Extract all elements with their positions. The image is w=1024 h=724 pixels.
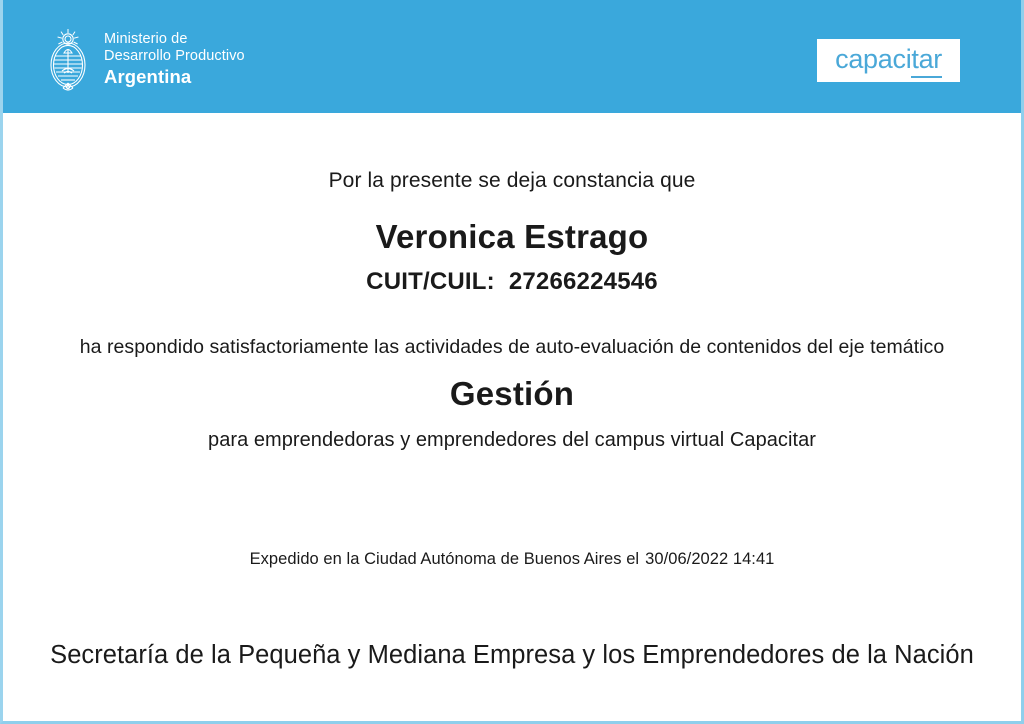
issue-line: Expedido en la Ciudad Autónoma de Buenos… (3, 550, 1021, 569)
ministry-line-1: Ministerio de (104, 31, 245, 48)
achievement-statement: ha respondido satisfactoriamente las act… (3, 336, 1021, 359)
capacitar-logo-text-plain: capaci (835, 44, 911, 74)
ministry-line-2: Desarrollo Productivo (104, 48, 245, 65)
capacitar-logo-text: capacitar (835, 46, 942, 73)
issue-datetime: 30/06/2022 14:41 (645, 550, 774, 568)
ministry-text-block: Ministerio de Desarrollo Productivo Arge… (104, 31, 245, 87)
certificate-page: Ministerio de Desarrollo Productivo Arge… (0, 0, 1024, 724)
signing-authority: Secretaría de la Pequeña y Mediana Empre… (3, 641, 1021, 670)
cuit-row: CUIT/CUIL:27266224546 (3, 268, 1021, 296)
certificate-body: Por la presente se deja constancia que V… (3, 113, 1021, 721)
capacitar-logo: capacitar (817, 39, 960, 82)
course-title: Gestión (3, 375, 1021, 413)
header-band: Ministerio de Desarrollo Productivo Arge… (0, 0, 1024, 113)
intro-line: Por la presente se deja constancia que (3, 169, 1021, 193)
cuit-label: CUIT/CUIL: (366, 268, 495, 295)
argentina-national-emblem-icon (44, 23, 92, 95)
audience-line: para emprendedoras y emprendedores del c… (3, 429, 1021, 452)
cuit-value: 27266224546 (509, 268, 658, 295)
capacitar-logo-text-underlined: tar (911, 44, 942, 78)
ministry-line-3-argentina: Argentina (104, 66, 245, 87)
ministry-brand: Ministerio de Desarrollo Productivo Arge… (44, 23, 245, 95)
issue-place-text: Expedido en la Ciudad Autónoma de Buenos… (250, 550, 640, 568)
recipient-name: Veronica Estrago (3, 218, 1021, 256)
